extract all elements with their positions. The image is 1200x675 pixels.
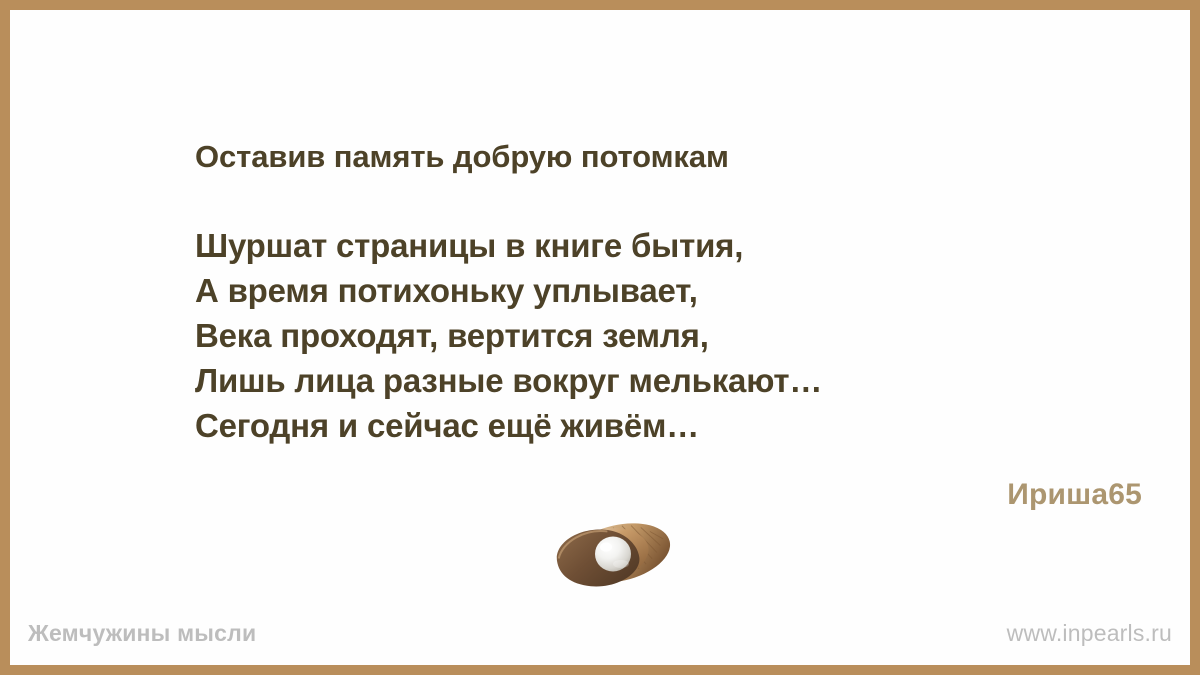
author-signature[interactable]: Ириша65	[1007, 478, 1142, 512]
poem-block: Оставив память добрую потомкам Шуршат ст…	[195, 138, 1150, 448]
poem-line: Лишь лица разные вокруг мелькают…	[195, 358, 1150, 403]
page-root: { "theme": { "frame_color": "#b98e5b", "…	[0, 0, 1200, 675]
content-card: Оставив память добрую потомкам Шуршат ст…	[10, 10, 1190, 665]
poem-lines: Шуршат страницы в книге бытия, А время п…	[195, 223, 1150, 448]
poem-line: Века проходят, вертится земля,	[195, 313, 1150, 358]
poem-line: А время потихоньку уплывает,	[195, 268, 1150, 313]
shell-with-pearl-icon	[543, 513, 683, 601]
poem-line: Шуршат страницы в книге бытия,	[195, 223, 1150, 268]
site-name: Жемчужины мысли	[28, 620, 256, 647]
poem-line: Сегодня и сейчас ещё живём…	[195, 403, 1150, 448]
poem-title: Оставив память добрую потомкам	[195, 138, 1150, 176]
site-url[interactable]: www.inpearls.ru	[1007, 620, 1172, 647]
